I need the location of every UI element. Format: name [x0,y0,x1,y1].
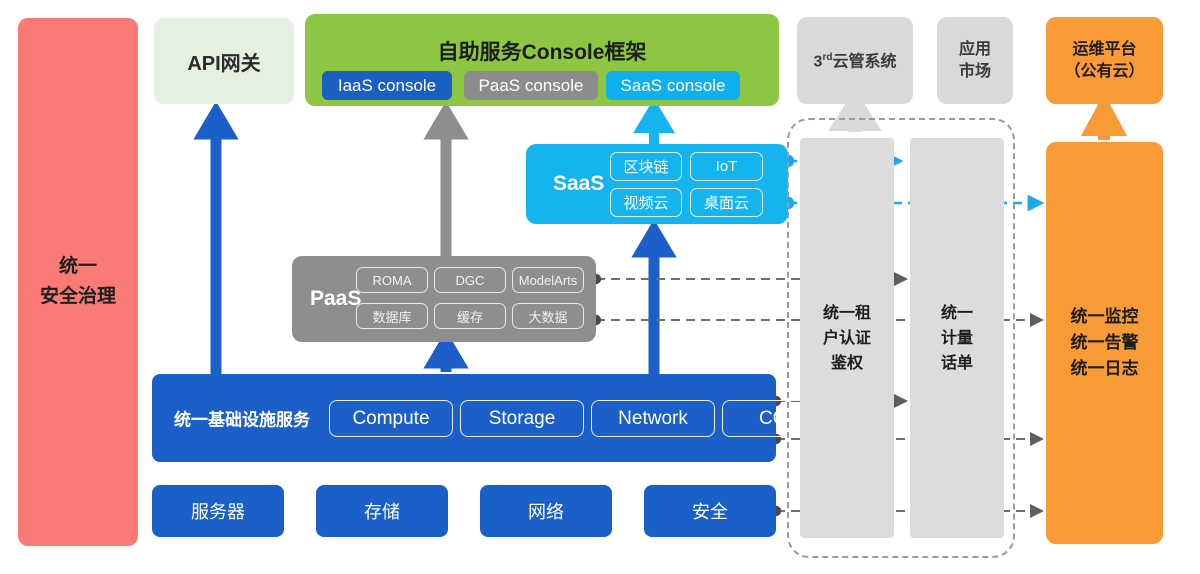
self-service-console-frame: 自助服务Console框架 IaaS console PaaS console … [305,14,779,106]
paas-item-database[interactable]: 数据库 [356,303,428,329]
saas-item-blockchain-label: 区块链 [623,156,668,177]
unified-infrastructure-bar: 统一基础设施服务 Compute Storage Network CCE [152,374,776,462]
architecture-diagram: 统一安全治理 API网关 自助服务Console框架 IaaS console … [0,0,1200,574]
hardware-item-network-label: 网络 [528,498,564,524]
hardware-item-network[interactable]: 网络 [480,485,612,537]
saas-item-iot-label: IoT [716,158,738,175]
console-frame-title: 自助服务Console框架 [305,36,779,66]
hardware-item-security[interactable]: 安全 [644,485,776,537]
paas-item-roma-label: ROMA [373,273,412,288]
saas-item-desktop-cloud[interactable]: 桌面云 [690,188,763,217]
hardware-item-storage-label: 存储 [364,498,400,524]
shared-service-column-metering[interactable]: 统一计量话单 [910,138,1004,538]
saas-item-video-cloud[interactable]: 视频云 [610,188,682,217]
saas-layer-label: SaaS [553,172,604,196]
shared-service-column-metering-label: 统一计量话单 [941,301,973,376]
monitoring-panel-label: 统一监控统一告警统一日志 [1071,304,1139,382]
paas-item-modelarts-label: ModelArts [519,273,578,288]
security-governance-panel: 统一安全治理 [18,18,138,546]
chip-paas-console-label: PaaS console [479,76,584,96]
arrow-saas-to-saas-console [642,108,666,148]
third-party-cloud-mgmt-label: 3rd云管系统 [814,47,897,73]
iaas-item-network-label: Network [618,408,688,430]
paas-item-cache[interactable]: 缓存 [434,303,506,329]
arrow-iaas-to-apigw [203,112,229,375]
chip-iaas-console[interactable]: IaaS console [322,71,452,100]
saas-layer: SaaS 区块链 IoT 视频云 桌面云 [526,144,788,224]
ops-platform-box[interactable]: 运维平台（公有云） [1046,17,1163,104]
arrow-iaas-to-saas [641,230,667,375]
paas-item-bigdata[interactable]: 大数据 [512,303,584,329]
chip-saas-console[interactable]: SaaS console [606,71,740,100]
iaas-item-storage-label: Storage [489,408,556,430]
chip-paas-console[interactable]: PaaS console [464,71,598,100]
security-governance-label: 统一安全治理 [40,252,116,312]
shared-service-column-auth[interactable]: 统一租户认证鉴权 [800,138,894,538]
saas-item-video-cloud-label: 视频云 [623,192,668,213]
app-market-box[interactable]: 应用市场 [937,17,1013,104]
api-gateway-label: API网关 [187,47,260,76]
paas-item-bigdata-label: 大数据 [528,307,567,326]
hardware-item-server[interactable]: 服务器 [152,485,284,537]
saas-item-desktop-cloud-label: 桌面云 [704,192,749,213]
iaas-item-storage[interactable]: Storage [460,400,584,437]
monitoring-panel: 统一监控统一告警统一日志 [1046,142,1163,544]
saas-item-iot[interactable]: IoT [690,152,763,181]
paas-item-roma[interactable]: ROMA [356,267,428,293]
arrow-paas-to-console [433,112,459,258]
chip-iaas-console-label: IaaS console [338,76,436,96]
saas-item-blockchain[interactable]: 区块链 [610,152,682,181]
ops-platform-label: 运维平台（公有云） [1064,39,1144,83]
paas-item-dgc-label: DGC [456,273,485,288]
paas-layer: PaaS ROMA DGC ModelArts 数据库 缓存 大数据 [292,256,596,342]
iaas-item-compute[interactable]: Compute [329,400,453,437]
third-party-cloud-mgmt-box[interactable]: 3rd云管系统 [797,17,913,104]
paas-item-dgc[interactable]: DGC [434,267,506,293]
hardware-item-storage[interactable]: 存储 [316,485,448,537]
arrow-hardware-to-iaas [433,341,459,372]
paas-item-cache-label: 缓存 [457,307,483,326]
shared-service-column-auth-label: 统一租户认证鉴权 [823,301,871,376]
iaas-item-network[interactable]: Network [591,400,715,437]
hardware-item-server-label: 服务器 [191,498,245,524]
paas-item-modelarts[interactable]: ModelArts [512,267,584,293]
hardware-item-security-label: 安全 [692,498,728,524]
paas-layer-label: PaaS [310,287,361,311]
paas-item-database-label: 数据库 [372,307,411,326]
app-market-label: 应用市场 [959,39,991,83]
chip-saas-console-label: SaaS console [621,76,726,96]
iaas-item-compute-label: Compute [352,408,429,430]
arrow-monitoring-to-ops [1091,106,1117,140]
unified-infrastructure-label: 统一基础设施服务 [174,406,310,431]
api-gateway-box[interactable]: API网关 [154,18,294,104]
